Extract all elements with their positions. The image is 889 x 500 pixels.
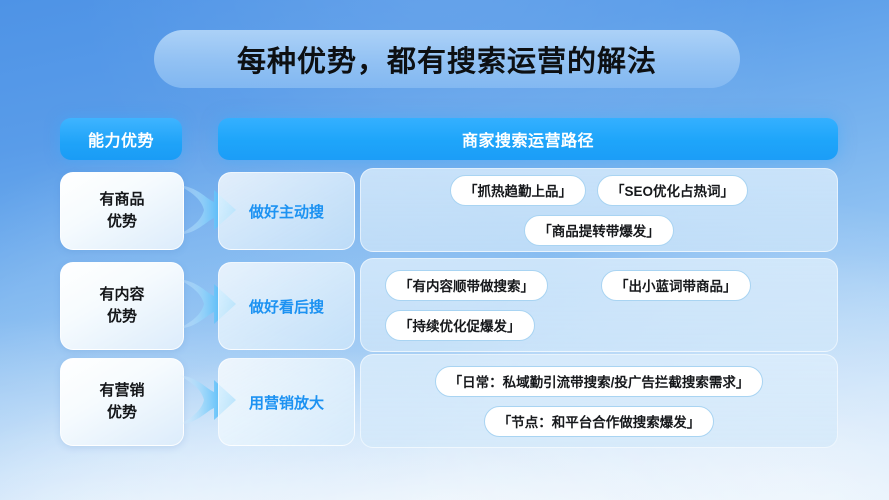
capability-card-label: 有内容 优势 xyxy=(99,284,144,328)
capability-line-1: 有营销 xyxy=(99,382,144,399)
capability-line-1: 有内容 xyxy=(99,286,144,303)
action-card[interactable]: 做好主动搜 xyxy=(218,172,355,250)
tag-item[interactable]: 「有内容顺带做搜索」 xyxy=(385,270,548,301)
tag-item[interactable]: 「日常：私域勤引流带搜索/投广告拦截搜索需求」 xyxy=(435,366,764,397)
capability-line-2: 优势 xyxy=(107,213,137,230)
column-header-path-label: 商家搜索运营路径 xyxy=(462,127,594,151)
capability-line-1: 有商品 xyxy=(99,191,144,208)
capability-card[interactable]: 有商品 优势 xyxy=(60,172,184,250)
capability-line-2: 优势 xyxy=(107,308,137,325)
tag-panel: 「抓热趋勤上品」 「SEO优化占热词」 「商品提转带爆发」 xyxy=(360,168,838,252)
page-title: 每种优势，都有搜索运营的解法 xyxy=(237,38,657,80)
capability-card[interactable]: 有内容 优势 xyxy=(60,262,184,350)
action-card-label: 用营销放大 xyxy=(249,392,324,413)
tag-panel: 「有内容顺带做搜索」 「出小蓝词带商品」 「持续优化促爆发」 xyxy=(360,258,838,352)
slide-canvas: 每种优势，都有搜索运营的解法 能力优势 商家搜索运营路径 有商品 优势 xyxy=(0,0,889,500)
tag-item[interactable]: 「节点：和平台合作做搜索爆发」 xyxy=(484,406,715,437)
column-header-capability: 能力优势 xyxy=(60,118,182,160)
tag-item[interactable]: 「抓热趋勤上品」 xyxy=(450,175,586,206)
action-card-label: 做好主动搜 xyxy=(249,201,324,222)
tag-item[interactable]: 「出小蓝词带商品」 xyxy=(601,270,751,301)
capability-line-2: 优势 xyxy=(107,404,137,421)
capability-card-label: 有营销 优势 xyxy=(99,380,144,424)
action-card[interactable]: 做好看后搜 xyxy=(218,262,355,350)
action-card[interactable]: 用营销放大 xyxy=(218,358,355,446)
column-header-capability-label: 能力优势 xyxy=(88,127,154,151)
tag-item[interactable]: 「持续优化促爆发」 xyxy=(385,310,535,341)
column-header-path: 商家搜索运营路径 xyxy=(218,118,838,160)
slide-title-banner: 每种优势，都有搜索运营的解法 xyxy=(154,30,740,88)
action-card-label: 做好看后搜 xyxy=(249,296,324,317)
capability-card-label: 有商品 优势 xyxy=(99,189,144,233)
tag-item[interactable]: 「SEO优化占热词」 xyxy=(597,175,748,206)
capability-card[interactable]: 有营销 优势 xyxy=(60,358,184,446)
tag-item[interactable]: 「商品提转带爆发」 xyxy=(524,215,674,246)
tag-panel: 「日常：私域勤引流带搜索/投广告拦截搜索需求」 「节点：和平台合作做搜索爆发」 xyxy=(360,354,838,448)
